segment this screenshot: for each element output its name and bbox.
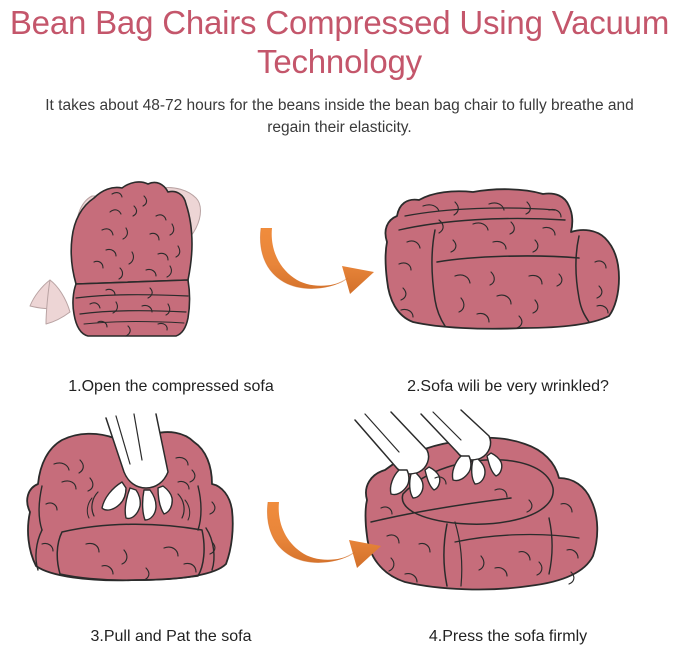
illustration-wrinkled-sofa — [343, 158, 673, 354]
step-caption-2: 2.Sofa wili be very wrinkled? — [343, 377, 673, 396]
curved-arrow-icon-2 — [265, 496, 391, 580]
curved-arrow-icon-1 — [258, 222, 384, 306]
step-caption-1: 1.Open the compressed sofa — [6, 377, 336, 396]
header: Bean Bag Chairs Compressed Using Vacuum … — [0, 0, 679, 139]
page-title: Bean Bag Chairs Compressed Using Vacuum … — [0, 0, 679, 81]
step-caption-3: 3.Pull and Pat the sofa — [6, 627, 336, 646]
page-subtitle: It takes about 48-72 hours for the beans… — [0, 81, 679, 139]
infographic-page: Bean Bag Chairs Compressed Using Vacuum … — [0, 0, 679, 657]
step-4: 4.Press the sofa firmly — [343, 408, 673, 648]
step-caption-4: 4.Press the sofa firmly — [343, 627, 673, 646]
illustration-press-sofa — [343, 408, 673, 604]
step-2: 2.Sofa wili be very wrinkled? — [343, 158, 673, 398]
